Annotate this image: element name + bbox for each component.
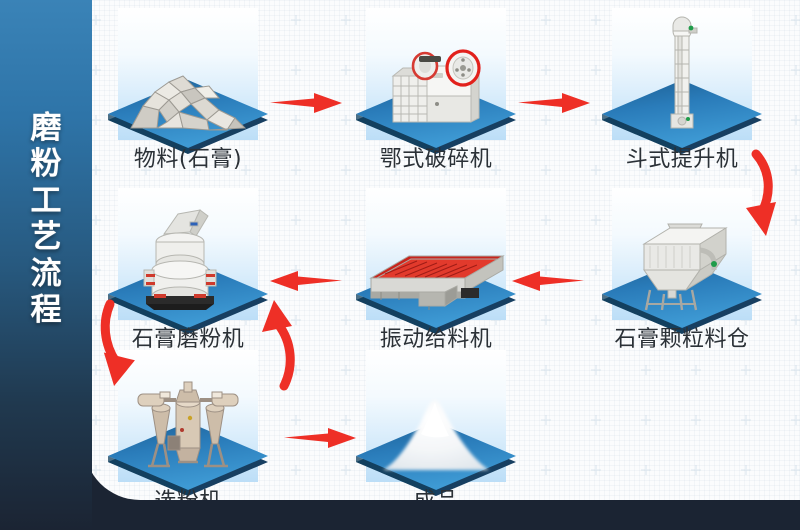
step-label-raw-material: 物料(石膏)	[90, 141, 286, 173]
arrow-classifier-to-product	[284, 425, 356, 451]
sidebar-title-char-4: 流	[31, 258, 62, 291]
step-label-powder-classifier: 选粉机	[90, 483, 286, 500]
sidebar-title-char-0: 磨	[31, 112, 62, 145]
sidebar-title-char-1: 粉	[31, 148, 62, 181]
raymond-mill-icon	[134, 208, 242, 312]
process-step-finished-product[interactable]: 成品	[338, 350, 534, 500]
arrow-silo-to-feeder	[512, 268, 584, 294]
arrow-elevator-to-silo	[732, 150, 778, 242]
sidebar: 磨 粉 工 艺 流 程	[0, 0, 92, 530]
sidebar-title-char-2: 工	[31, 185, 62, 218]
sidebar-title-char-5: 程	[31, 294, 62, 327]
process-step-vibrating-feeder[interactable]: 振动给料机	[338, 188, 534, 358]
process-flow-diagram: 物料(石膏)	[84, 0, 800, 500]
arrow-crusher-to-elevator	[518, 90, 590, 116]
process-step-jaw-crusher[interactable]: 鄂式破碎机	[338, 8, 534, 178]
sidebar-title: 磨 粉 工 艺 流 程	[0, 112, 92, 328]
arrow-raw-to-crusher	[270, 90, 342, 116]
classifier-icon	[124, 378, 252, 474]
process-step-raw-material[interactable]: 物料(石膏)	[90, 8, 286, 178]
rock-pile-icon	[123, 70, 253, 132]
arrow-feeder-to-mill	[270, 268, 342, 294]
sidebar-title-char-3: 艺	[31, 221, 62, 254]
step-label-finished-product: 成品	[338, 483, 534, 500]
step-label-gypsum-silo: 石膏颗粒料仓	[584, 321, 780, 353]
step-label-vibrating-feeder: 振动给料机	[338, 321, 534, 353]
powder-pile-icon	[377, 398, 495, 474]
jaw-crusher-icon	[375, 48, 497, 132]
vibrating-feeder-icon	[365, 248, 507, 312]
arrow-mill-to-classifier	[96, 300, 138, 392]
arrow-classifier-to-mill	[260, 298, 302, 390]
step-label-jaw-crusher: 鄂式破碎机	[338, 141, 534, 173]
storage-silo-icon	[630, 216, 734, 312]
bucket-elevator-icon	[659, 20, 705, 132]
flowchart-panel: 物料(石膏)	[84, 0, 800, 500]
